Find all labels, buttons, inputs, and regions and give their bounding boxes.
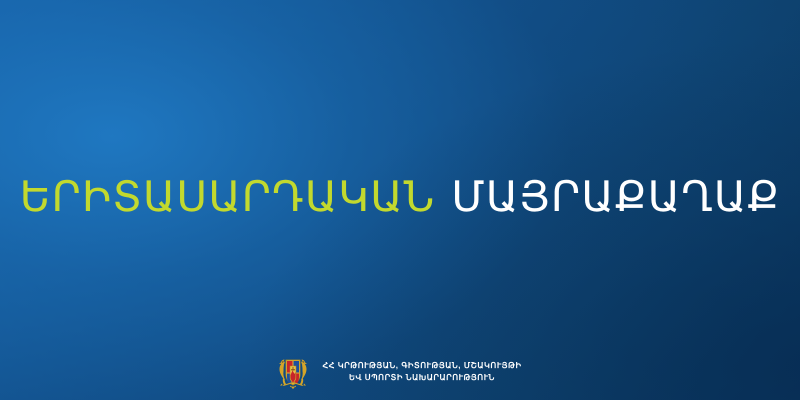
ministry-name-line-1: ՀՀ ԿՐԹՈՒԹՅԱՆ, ԳԻՏՈՒԹՅԱՆ, ՄՇԱԿՈՒՅԹԻ (322, 360, 521, 372)
ministry-name-line-2: ԵՎ ՍՊՈՐՏԻ ՆԱԽԱՐԱՐՈՒԹՅՈՒՆ (322, 372, 521, 384)
ministry-footer: ՀՀ ԿՐԹՈՒԹՅԱՆ, ԳԻՏՈՒԹՅԱՆ, ՄՇԱԿՈՒՅԹԻ ԵՎ ՍՊ… (0, 355, 800, 389)
title-word-plain: ՄԱՅՐԱՔԱՂԱՔ (451, 173, 780, 220)
title-word-accent: ԵՐԻՏԱՍԱՐԴԱԿԱՆ (20, 173, 436, 220)
youth-capital-banner: ԵՐԻՏԱՍԱՐԴԱԿԱՆՄԱՅՐԱՔԱՂԱՔ (0, 0, 800, 400)
armenia-coat-of-arms-icon (278, 355, 308, 389)
title-line: ԵՐԻՏԱՍԱՐԴԱԿԱՆՄԱՅՐԱՔԱՂԱՔ (20, 176, 781, 218)
ministry-name: ՀՀ ԿՐԹՈՒԹՅԱՆ, ԳԻՏՈՒԹՅԱՆ, ՄՇԱԿՈՒՅԹԻ ԵՎ ՍՊ… (322, 360, 521, 384)
banner-title: ԵՐԻՏԱՍԱՐԴԱԿԱՆՄԱՅՐԱՔԱՂԱՔ (0, 168, 800, 226)
